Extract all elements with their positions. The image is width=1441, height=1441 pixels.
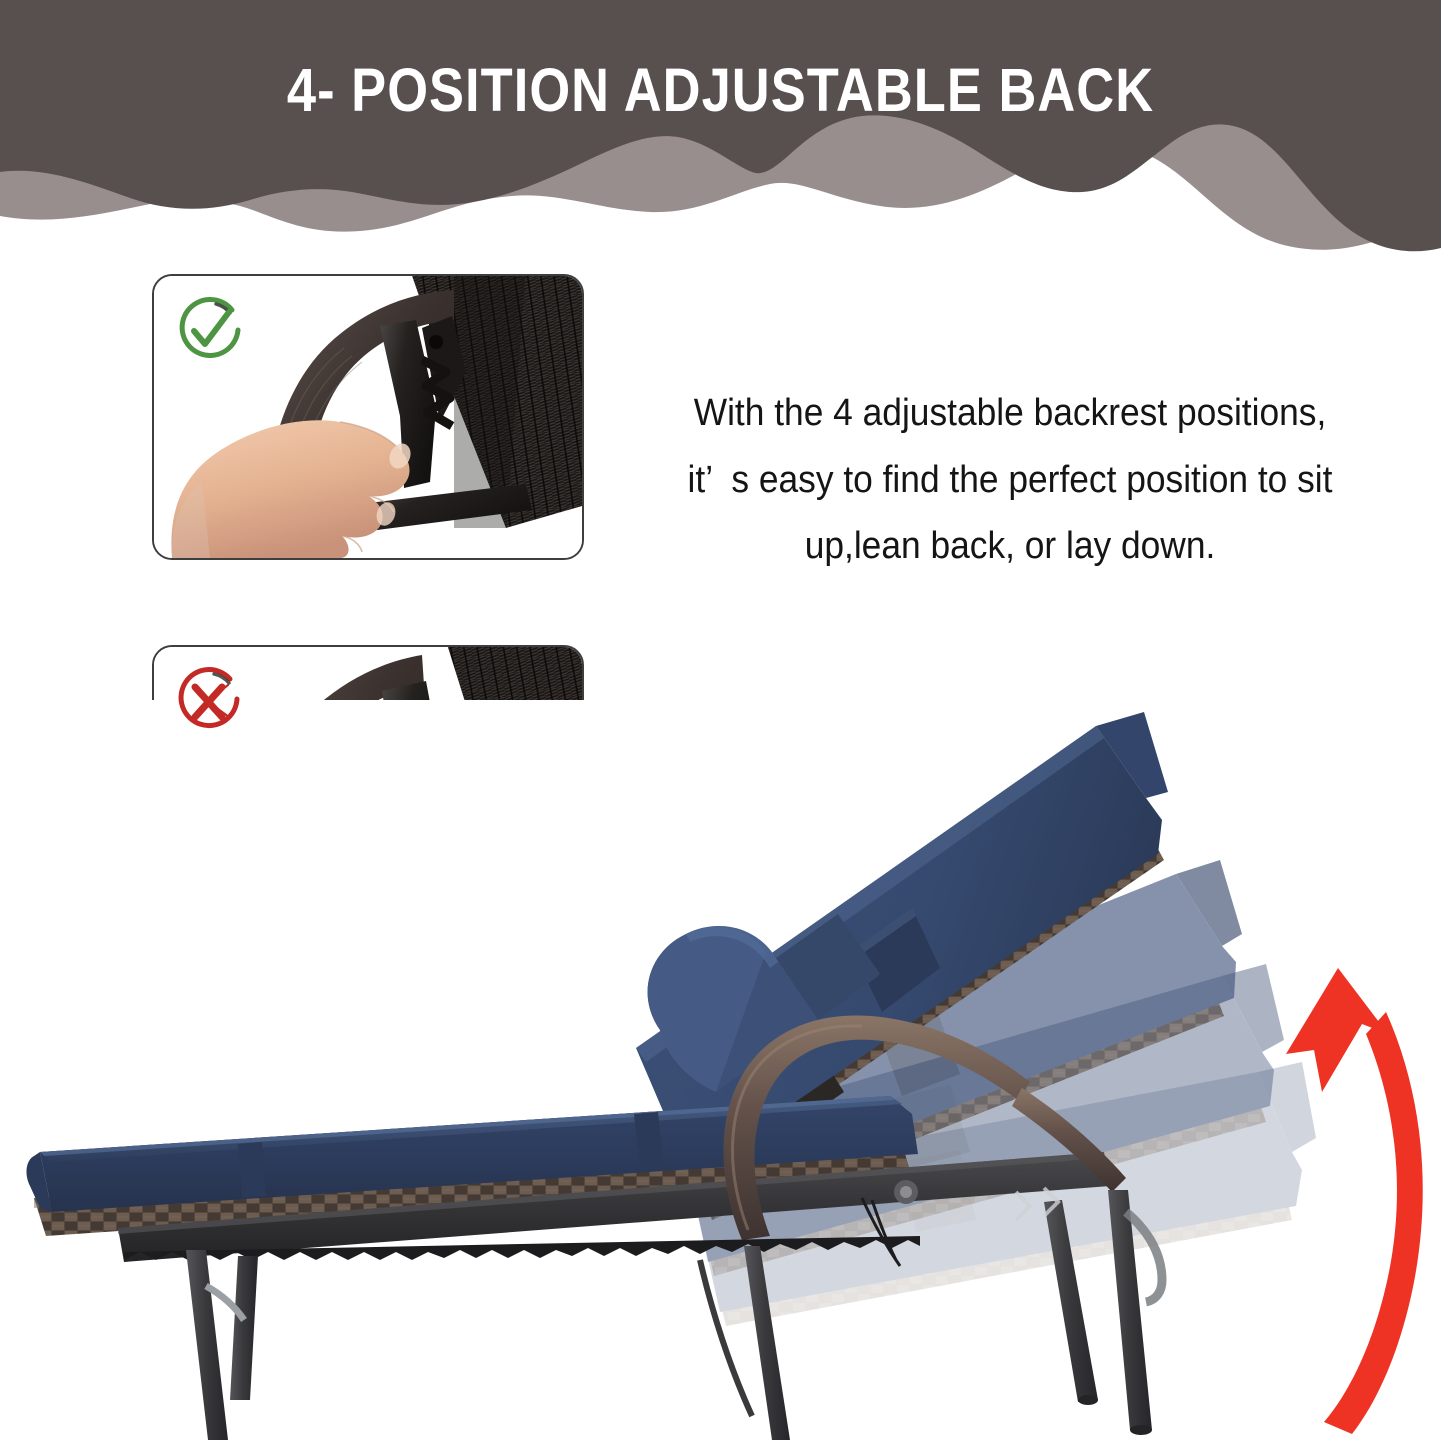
check-circle-icon <box>172 294 246 368</box>
description-line-1: With the 4 adjustable backrest positions… <box>657 380 1364 447</box>
description-line-3: up,lean back, or lay down. <box>657 513 1364 580</box>
product-feature-image: 4- POSITION ADJUSTABLE BACK <box>0 0 1441 1441</box>
description-line-2: it’ s easy to find the perfect position … <box>657 447 1364 514</box>
product-illustration <box>0 700 1441 1441</box>
header-banner: 4- POSITION ADJUSTABLE BACK <box>0 0 1441 270</box>
inset-correct-usage <box>152 274 584 560</box>
feature-description: With the 4 adjustable backrest positions… <box>657 380 1364 580</box>
page-title: 4- POSITION ADJUSTABLE BACK <box>101 58 1340 122</box>
x-circle-icon <box>172 665 246 739</box>
